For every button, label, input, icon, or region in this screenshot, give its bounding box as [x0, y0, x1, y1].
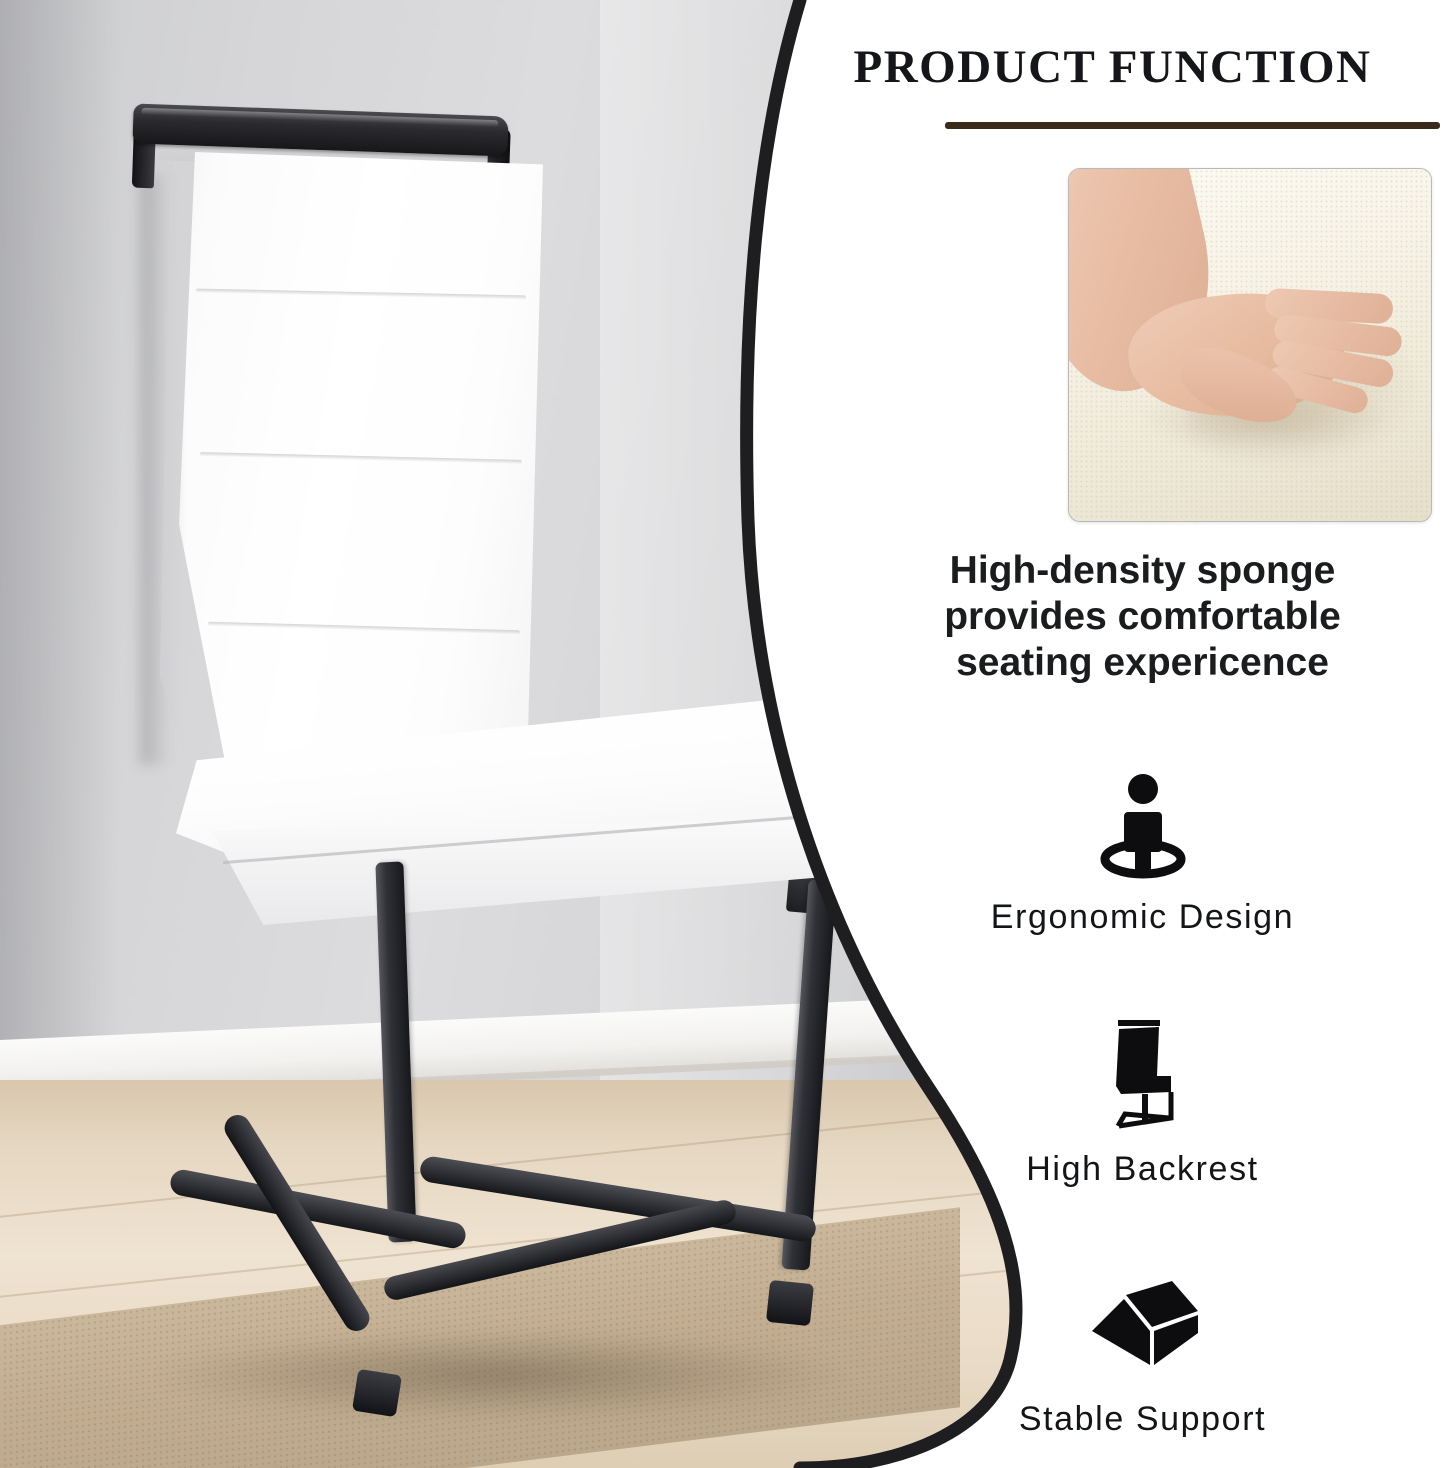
person-in-circle-icon — [840, 760, 1445, 890]
sponge-caption: High-density sponge provides comfortable… — [850, 548, 1435, 686]
rail-highlight — [141, 108, 498, 127]
leg-front — [375, 861, 416, 1242]
sled-runner-front — [382, 1198, 738, 1302]
high-back-chair-icon — [840, 1012, 1445, 1142]
caption-line: seating expericence — [850, 640, 1435, 686]
feature-label: Stable Support — [840, 1400, 1445, 1439]
metal-ingot-icon — [840, 1262, 1445, 1392]
feature-stable-support: Stable Support — [840, 1262, 1445, 1439]
infographic-root: PRODUCT FUNCTION High-density sponge pro… — [0, 0, 1445, 1468]
chair-foot — [766, 1280, 814, 1326]
feature-label: High Backrest — [840, 1150, 1445, 1189]
feature-high-backrest: High Backrest — [840, 1012, 1445, 1189]
caption-line: High-density sponge — [850, 548, 1435, 594]
sponge-photo — [1068, 168, 1432, 522]
chair-floor-shadow — [150, 1330, 850, 1420]
leg-back — [781, 879, 836, 1270]
page-title: PRODUCT FUNCTION — [780, 40, 1445, 94]
info-panel: PRODUCT FUNCTION High-density sponge pro… — [840, 0, 1445, 1468]
title-rule — [945, 122, 1440, 129]
feature-ergonomic-design: Ergonomic Design — [840, 760, 1445, 937]
feature-label: Ergonomic Design — [840, 898, 1445, 937]
caption-line: provides comfortable — [850, 594, 1435, 640]
chair-foot — [352, 1369, 402, 1417]
